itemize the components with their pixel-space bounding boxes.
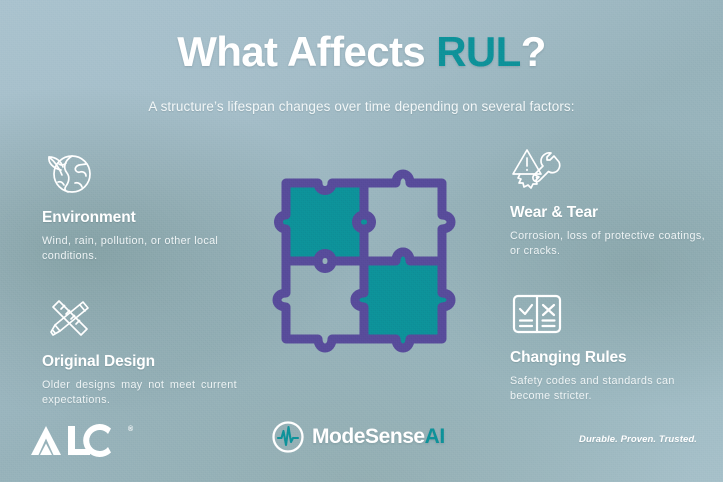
check-cross-panel-icon (510, 288, 564, 340)
feature-title: Original Design (42, 353, 237, 371)
page-title: What Affects RUL? (0, 30, 723, 74)
modesense-brand-text: ModeSense (312, 425, 425, 448)
puzzle-piece-bottom-left (277, 261, 364, 348)
modesense-ai-logo: ModeSenseAI (271, 420, 445, 454)
feature-original-design: Original Design Older designs may not me… (42, 292, 237, 409)
alc-logotype-icon (30, 424, 126, 458)
page-subtitle: A structure’s lifespan changes over time… (0, 99, 723, 114)
registered-trademark-mark: ® (128, 426, 133, 433)
four-piece-puzzle-graphic (256, 163, 470, 375)
modesense-ai-text: AI (425, 425, 445, 448)
title-main-text: What Affects (177, 28, 436, 75)
feature-environment: Environment Wind, rain, pollution, or ot… (42, 148, 237, 265)
globe-leaf-icon (42, 148, 96, 200)
feature-description: Wind, rain, pollution, or other local co… (42, 234, 237, 265)
feature-title: Wear & Tear (510, 204, 705, 222)
feature-changing-rules: Changing Rules Safety codes and standard… (510, 288, 705, 405)
alc-logo: ® (30, 424, 133, 458)
feature-title: Changing Rules (510, 349, 705, 367)
footer-tagline: Durable. Proven. Trusted. (579, 434, 697, 445)
infographic-canvas: What Affects RUL? A structure’s lifespan… (0, 0, 723, 482)
warning-wrench-gear-icon (510, 143, 568, 195)
title-accent-text: RUL (436, 28, 521, 75)
ruler-pencil-icon (42, 292, 96, 344)
feature-description: Safety codes and standards can become st… (510, 374, 705, 405)
title-tail-text: ? (521, 28, 546, 75)
feature-description: Older designs may not meet current expec… (42, 378, 237, 409)
feature-wear-and-tear: Wear & Tear Corrosion, loss of protectiv… (510, 143, 705, 260)
puzzle-piece-bottom-right (355, 252, 451, 348)
pulse-waveform-icon (271, 420, 305, 454)
feature-description: Corrosion, loss of protective coatings, … (510, 229, 705, 260)
feature-title: Environment (42, 209, 237, 227)
modesense-wordmark: ModeSenseAI (312, 425, 445, 449)
